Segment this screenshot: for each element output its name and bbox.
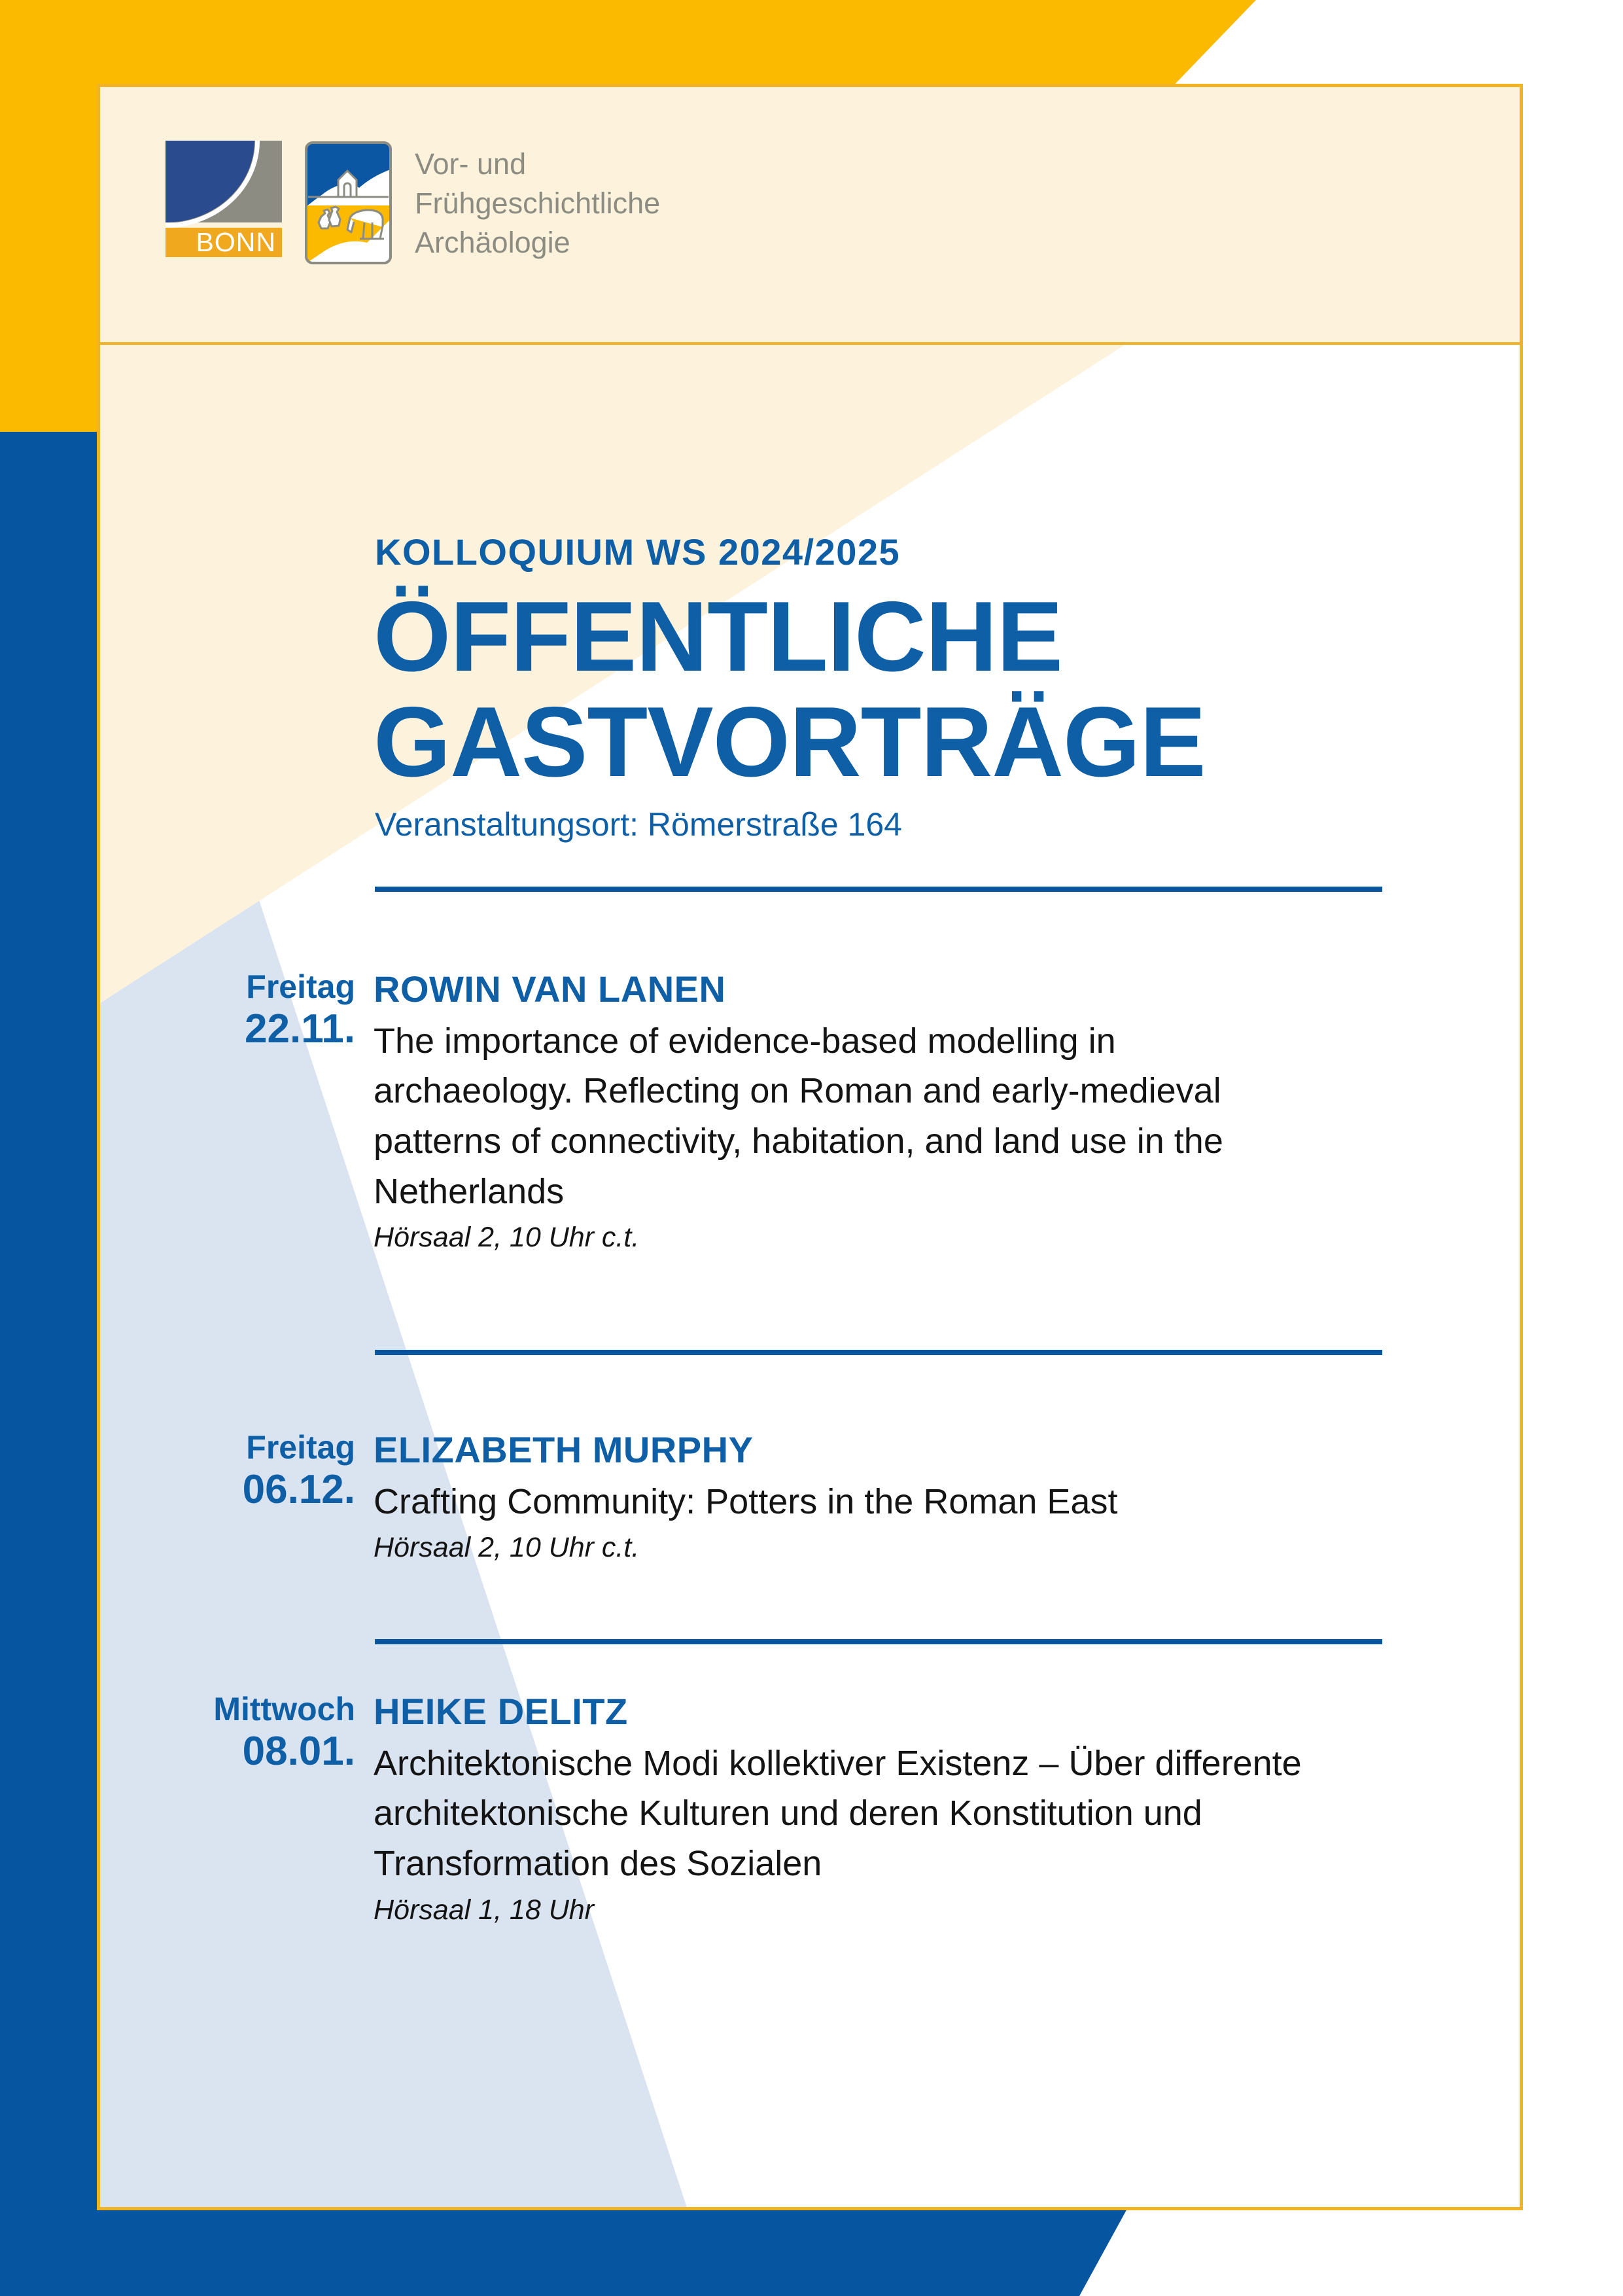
venue-line: Veranstaltungsort: Römerstraße 164 (375, 805, 902, 843)
event-talk-title: Architektonische Modi kollektiver Existe… (374, 1739, 1302, 1889)
event-day-name: Mittwoch (100, 1691, 355, 1727)
event-day-number: 22.11. (100, 1005, 355, 1053)
event-talk-title: Crafting Community: Potters in the Roman… (374, 1477, 1302, 1527)
poster-frame: UNI BONN (97, 84, 1523, 2210)
event-speaker: ELIZABETH MURPHY (374, 1430, 1302, 1470)
event-day-number: 08.01. (100, 1727, 355, 1775)
uni-logo-bonn-text: BONN (196, 228, 276, 257)
event-speaker: HEIKE DELITZ (374, 1691, 1302, 1732)
logo-band: UNI BONN (166, 141, 660, 265)
page-title: ÖFFENTLICHE GASTVORTRÄGE (374, 584, 1420, 795)
event-room-time: Hörsaal 2, 10 Uhr c.t. (374, 1222, 1302, 1254)
event-day-name: Freitag (100, 1430, 355, 1466)
event-date-column: Freitag 06.12. (100, 1430, 355, 1513)
divider-rule-bottom (375, 1639, 1382, 1644)
divider-rule-middle (375, 1350, 1382, 1355)
poster-canvas: UNI BONN (0, 0, 1623, 2296)
event-date-column: Freitag 22.11. (100, 969, 355, 1053)
poster-content: UNI BONN (100, 87, 1520, 2207)
uni-bonn-logo: UNI BONN (166, 141, 282, 257)
event-day-number: 06.12. (100, 1466, 355, 1513)
event-body: ROWIN VAN LANEN The importance of eviden… (374, 969, 1302, 1254)
event-body: HEIKE DELITZ Architektonische Modi kolle… (374, 1691, 1302, 1926)
kicker-kolloquium: KOLLOQUIUM WS 2024/2025 (375, 531, 900, 573)
event-day-name: Freitag (100, 969, 355, 1005)
event-talk-title: The importance of evidence-based modelli… (374, 1016, 1302, 1217)
department-name: Vor- und Frühgeschichtliche Archäologie (415, 145, 660, 262)
event-date-column: Mittwoch 08.01. (100, 1691, 355, 1775)
event-room-time: Hörsaal 1, 18 Uhr (374, 1894, 1302, 1926)
event-room-time: Hörsaal 2, 10 Uhr c.t. (374, 1532, 1302, 1564)
event-speaker: ROWIN VAN LANEN (374, 969, 1302, 1010)
divider-rule-top (375, 887, 1382, 892)
vfg-archaeology-crest-icon (304, 141, 393, 265)
event-body: ELIZABETH MURPHY Crafting Community: Pot… (374, 1430, 1302, 1564)
